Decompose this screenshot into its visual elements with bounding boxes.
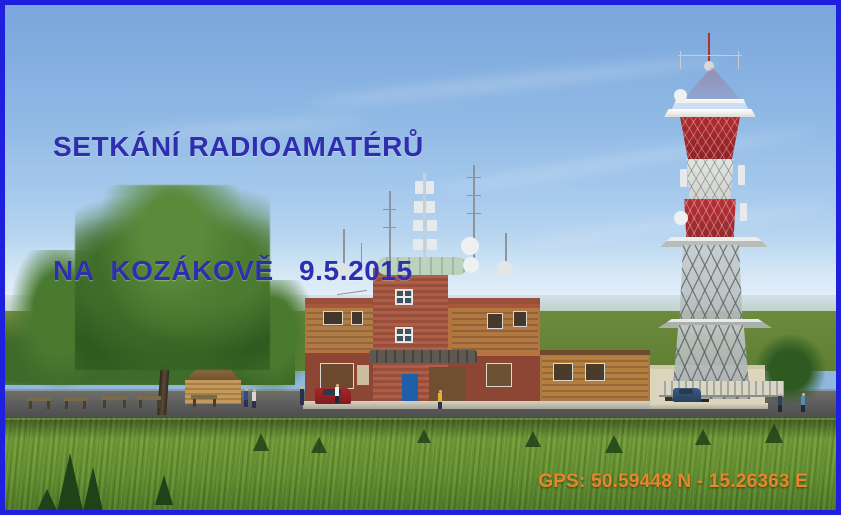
panel-antenna bbox=[740, 203, 747, 221]
parabolic-dish bbox=[461, 237, 479, 255]
title-line-1: SETKÁNÍ RADIOAMATÉRŮ bbox=[53, 126, 424, 167]
panel-antenna bbox=[427, 220, 437, 231]
window bbox=[487, 313, 503, 329]
tower-deck-railing bbox=[664, 109, 756, 117]
panel-antenna bbox=[426, 181, 434, 194]
bench-leg bbox=[47, 401, 50, 409]
bench-leg bbox=[157, 400, 160, 408]
tower-antenna-crossarm bbox=[678, 55, 742, 56]
panel-antenna bbox=[426, 201, 435, 213]
tower-antenna bbox=[738, 51, 739, 69]
conifer-sapling bbox=[525, 431, 541, 447]
window bbox=[553, 363, 573, 381]
conifer-sapling bbox=[311, 437, 327, 453]
window bbox=[486, 363, 512, 387]
photo-frame: SETKÁNÍ RADIOAMATÉRŮ NA KOZÁKOVĚ 9.5.201… bbox=[0, 0, 841, 515]
bench-leg bbox=[83, 401, 86, 409]
parabolic-dish bbox=[674, 89, 687, 102]
conifer-sapling bbox=[57, 453, 83, 510]
window bbox=[513, 311, 527, 327]
antenna-crossarm bbox=[467, 195, 481, 196]
parabolic-dish bbox=[497, 261, 513, 277]
bench-leg bbox=[123, 400, 126, 408]
conifer-sapling bbox=[35, 489, 59, 510]
antenna-crossarm bbox=[467, 213, 481, 214]
parabolic-dish bbox=[463, 257, 479, 273]
bench-leg bbox=[103, 400, 106, 408]
title-line-2: NA KOZÁKOVĚ 9.5.2015 bbox=[53, 250, 424, 291]
tower-mid-lattice bbox=[682, 159, 738, 203]
bench-leg bbox=[29, 401, 32, 409]
conifer-sapling bbox=[417, 429, 431, 443]
tower-upper-lattice bbox=[676, 117, 744, 161]
conifer-sapling bbox=[83, 467, 103, 510]
tower-lower-lattice bbox=[682, 199, 738, 241]
lookout-tower bbox=[660, 33, 770, 409]
bench-leg bbox=[65, 401, 68, 409]
panel-antenna bbox=[680, 169, 687, 187]
garage-door bbox=[429, 367, 465, 401]
bench-leg bbox=[139, 400, 142, 408]
panel-antenna bbox=[427, 239, 437, 250]
tower-antenna bbox=[680, 51, 681, 69]
tower-roof-frame bbox=[680, 67, 744, 103]
conifer-sapling bbox=[765, 423, 783, 443]
bench-leg bbox=[193, 399, 196, 407]
gps-coordinates-caption: GPS: 50.59448 N - 15.26363 E bbox=[538, 471, 808, 493]
conifer-sapling bbox=[605, 435, 623, 453]
conifer-sapling bbox=[253, 433, 269, 451]
photo-canvas: SETKÁNÍ RADIOAMATÉRŮ NA KOZÁKOVĚ 9.5.201… bbox=[5, 5, 836, 510]
conifer-sapling bbox=[695, 429, 711, 445]
bench-leg bbox=[213, 399, 216, 407]
car-window bbox=[679, 389, 693, 394]
event-title: SETKÁNÍ RADIOAMATÉRŮ NA KOZÁKOVĚ 9.5.201… bbox=[53, 43, 424, 375]
antenna-crossarm bbox=[467, 177, 481, 178]
conifer-sapling bbox=[155, 475, 173, 505]
window bbox=[585, 363, 605, 381]
parabolic-dish bbox=[674, 211, 688, 225]
building-plinth bbox=[303, 401, 653, 409]
panel-antenna bbox=[738, 165, 745, 185]
